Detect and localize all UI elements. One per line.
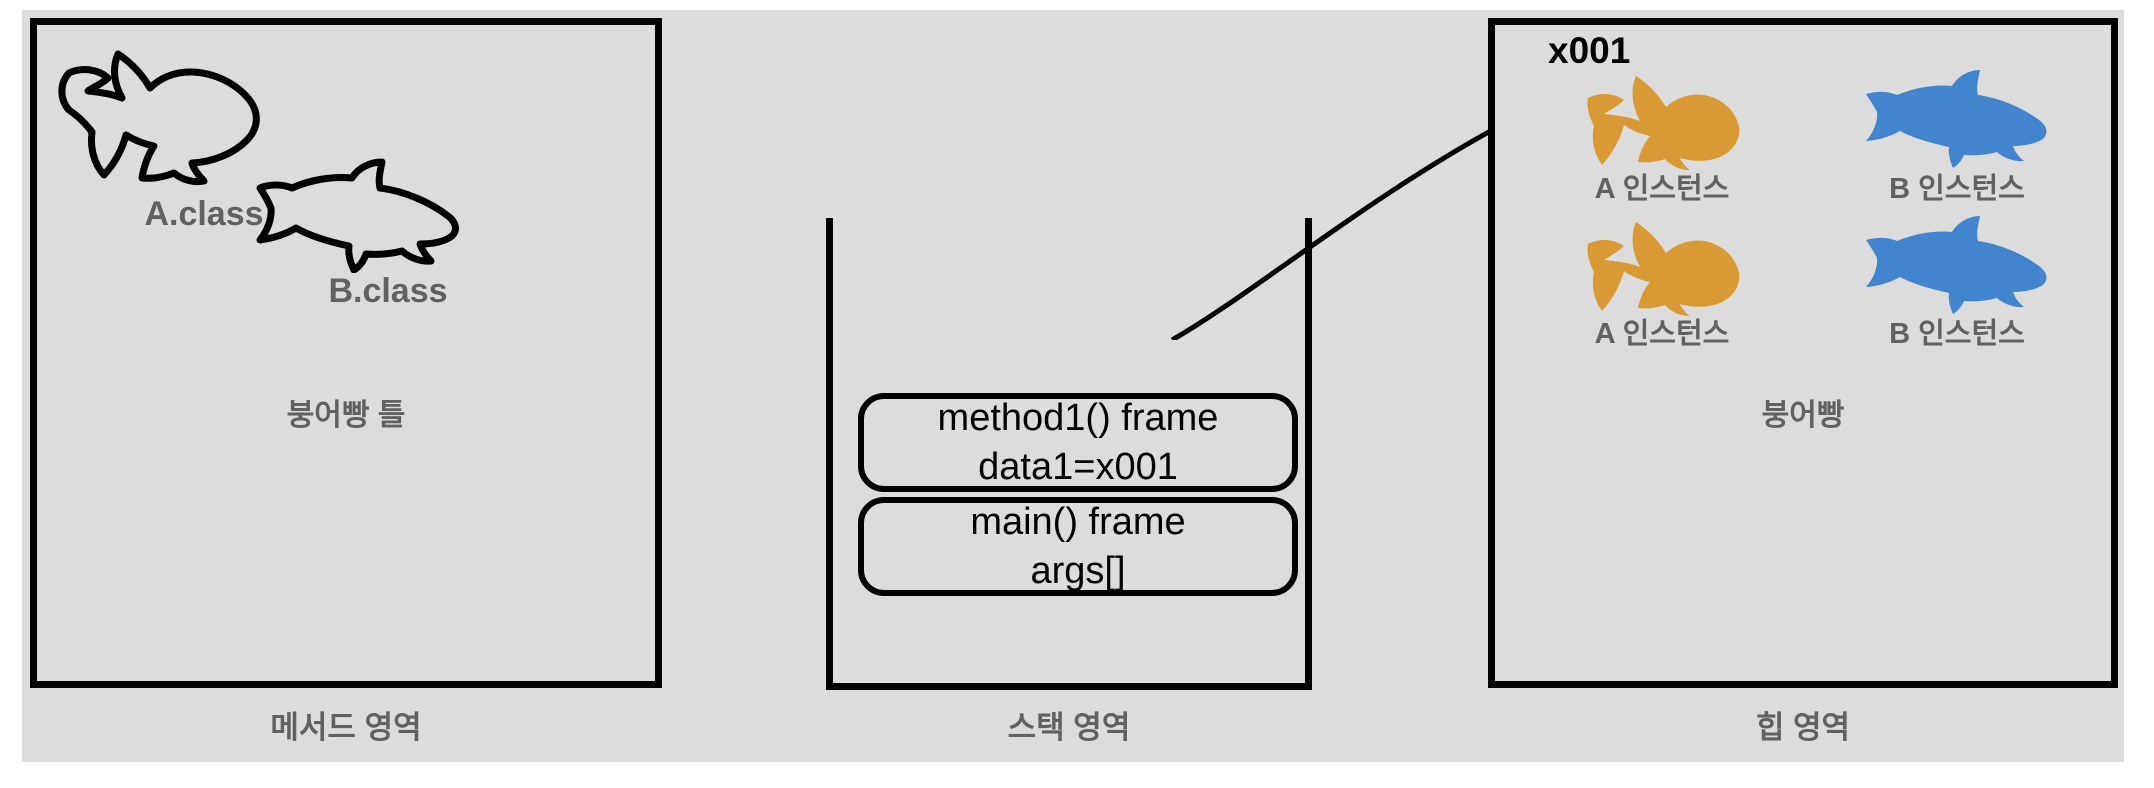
goldfish-outline-icon	[52, 40, 282, 195]
stack-frame-main: main() frame args[]	[858, 497, 1298, 596]
stack-frame-method1-name: method1() frame	[938, 394, 1219, 443]
stack-frame-method1-variable: data1=x001	[978, 443, 1178, 492]
class-b-label: B.class	[278, 272, 498, 311]
stack-left-border	[826, 218, 833, 690]
fish-icon	[1862, 68, 2052, 168]
heap-area-inner-caption: 붕어빵	[1693, 390, 1913, 434]
heap-instance-label-b1: B 인스턴스	[1847, 165, 2067, 207]
stack-frame-main-variable: args[]	[1030, 547, 1125, 596]
stack-area-caption: 스택 영역	[959, 702, 1179, 747]
method-area-caption: 메서드 영역	[236, 702, 456, 747]
goldfish-icon	[1582, 62, 1742, 170]
fish-icon	[1862, 214, 2052, 314]
stack-frame-method1: method1() frame data1=x001	[858, 393, 1298, 492]
stack-bottom-border	[826, 683, 1312, 690]
goldfish-icon	[1582, 208, 1742, 316]
stack-frame-main-name: main() frame	[970, 498, 1185, 547]
diagram-canvas: A.class B.class 붕어빵 틀 메서드 영역 method1() f…	[0, 0, 2154, 788]
heap-area-caption: 힙 영역	[1693, 702, 1913, 747]
class-a-label: A.class	[94, 195, 314, 234]
heap-instance-label-a1: A 인스턴스	[1552, 165, 1772, 207]
heap-instance-label-a2: A 인스턴스	[1552, 310, 1772, 352]
heap-instance-label-b2: B 인스턴스	[1847, 310, 2067, 352]
method-area-inner-caption: 붕어빵 틀	[236, 390, 456, 434]
stack-right-border	[1305, 218, 1312, 690]
